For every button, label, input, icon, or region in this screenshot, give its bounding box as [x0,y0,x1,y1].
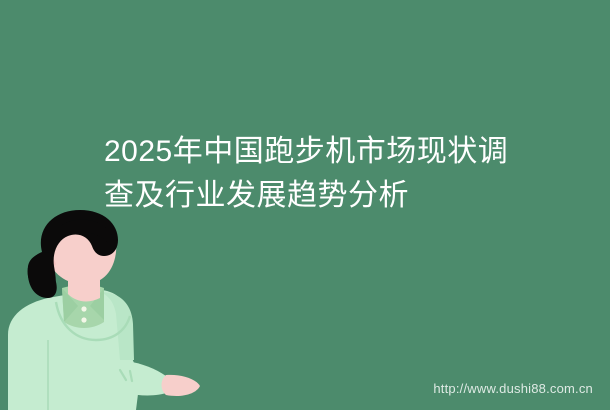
person-illustration [0,210,210,410]
title-line-2: 查及行业发展趋势分析 [104,174,524,218]
title-line-1: 2025年中国跑步机市场现状调 [104,130,524,174]
collar-button-bottom [81,317,86,322]
article-cover-image: 2025年中国跑步机市场现状调 查及行业发展趋势分析 http://www.du… [0,0,610,410]
page-title: 2025年中国跑步机市场现状调 查及行业发展趋势分析 [104,130,524,218]
collar-button-middle [81,306,86,311]
watermark-url: http://www.dushi88.com.cn [433,381,593,397]
person-illustration-svg [0,210,210,410]
hand [162,375,201,396]
